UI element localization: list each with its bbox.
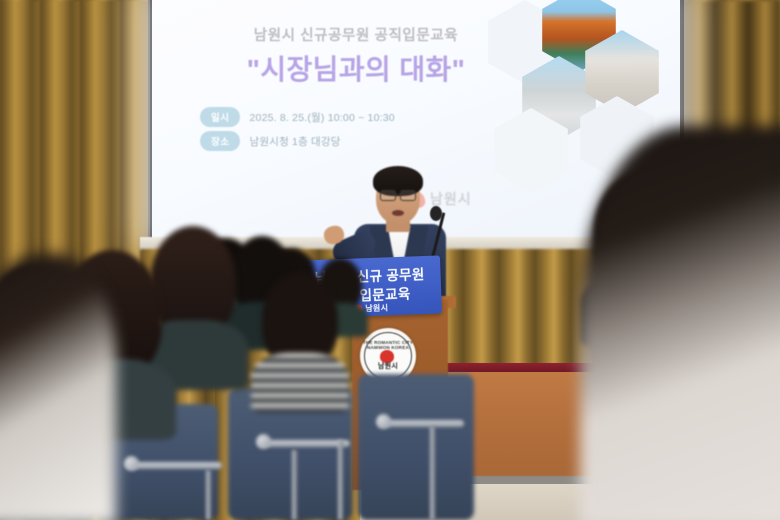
meta-value-location: 남원시청 1층 대강당 xyxy=(249,134,340,149)
chair-leg xyxy=(292,450,297,520)
slide-meta-datetime: 일시 2025. 8. 25.(월) 10:00 ~ 10:30 xyxy=(200,107,395,127)
chair-armrest-knob xyxy=(376,414,391,429)
chair-leg xyxy=(206,470,211,520)
meta-value-datetime: 2025. 8. 25.(월) 10:00 ~ 10:30 xyxy=(249,110,394,125)
chair-armrest-knob xyxy=(124,456,139,471)
chair-leg xyxy=(338,440,343,520)
meta-label-datetime: 일시 xyxy=(200,107,240,127)
seal-outer-text: THE ROMANTIC CITY NAMWON KOREA xyxy=(360,340,416,350)
audience-member xyxy=(150,226,236,338)
chair-armrest xyxy=(126,462,222,469)
banner-logo-text: 남원시 xyxy=(365,302,388,314)
foreground-person-left xyxy=(0,254,116,520)
chair-armrest-knob xyxy=(256,434,271,449)
chair-leg xyxy=(430,426,435,520)
slide-subtitle: 남원시 신규공무원 공직입문교육 xyxy=(196,24,516,45)
speaker-mouth xyxy=(392,210,404,216)
chair-armrest xyxy=(258,440,350,447)
audience-member xyxy=(262,272,338,368)
slide-meta-location: 장소 남원시청 1층 대강당 xyxy=(200,131,341,151)
glasses-icon xyxy=(380,190,416,199)
photo-scene: 남원시 신규공무원 공직입문교육 "시장님과의 대화" 일시 2025. 8. … xyxy=(0,0,780,520)
chair xyxy=(358,374,474,520)
foreground-person-right xyxy=(580,126,780,520)
seal-center-text: 남원시 xyxy=(360,361,416,371)
slide-title: "시장님과의 대화" xyxy=(188,48,524,88)
meta-label-location: 장소 xyxy=(200,131,240,151)
